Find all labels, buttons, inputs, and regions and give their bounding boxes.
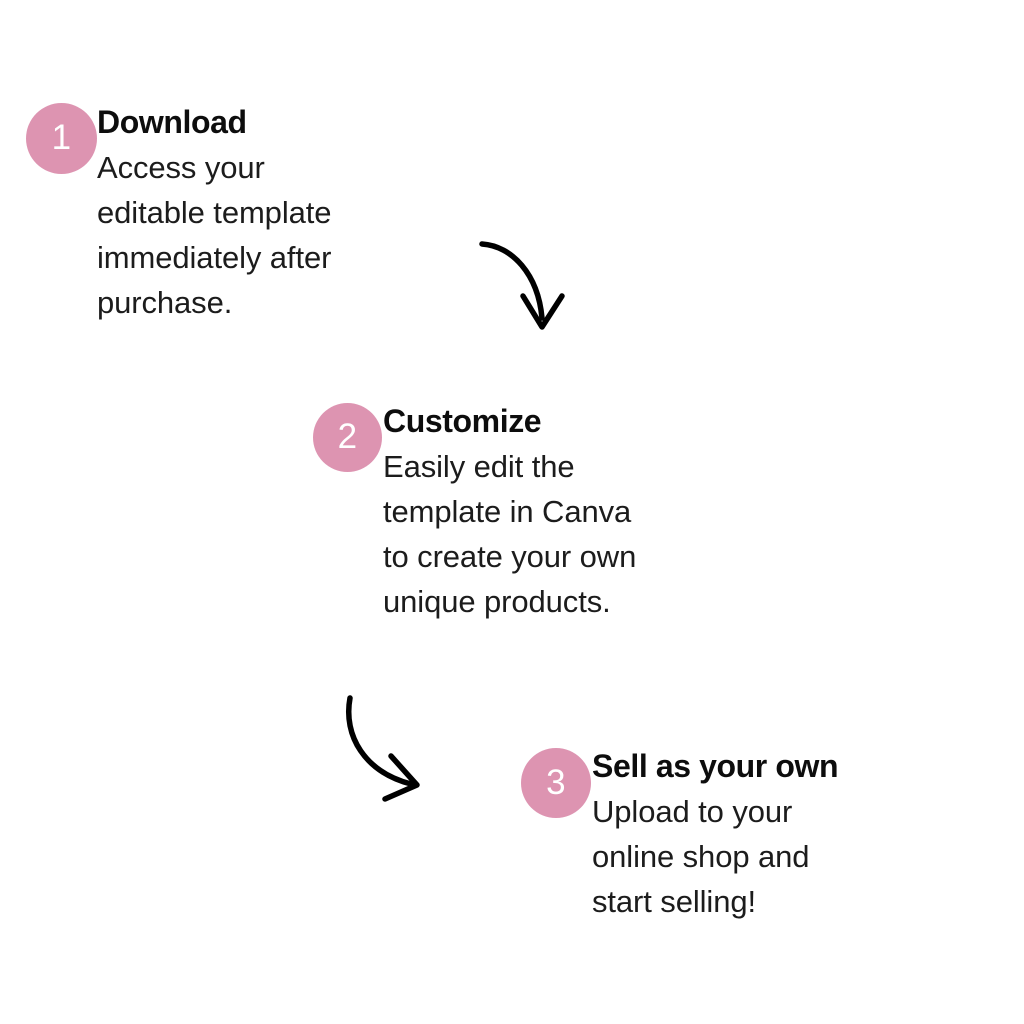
step-3-heading: Sell as your own xyxy=(592,747,838,785)
step-2-body-line-4: unique products. xyxy=(383,579,636,624)
curved-arrow-down-icon xyxy=(470,232,580,342)
step-3-body-line-3: start selling! xyxy=(592,879,838,924)
curved-arrow-down-right-icon xyxy=(335,684,435,804)
step-3-body-line-1: Upload to your xyxy=(592,789,838,834)
step-2-body-line-3: to create your own xyxy=(383,534,636,579)
step-1-number-badge: 1 xyxy=(26,103,97,174)
step-2-text-block: Customize Easily edit the template in Ca… xyxy=(383,402,636,624)
step-3-text-block: Sell as your own Upload to your online s… xyxy=(592,747,838,924)
step-3-number: 3 xyxy=(546,765,566,802)
step-2-number: 2 xyxy=(338,419,358,456)
step-1-body-line-1: Access your xyxy=(97,145,331,190)
step-1-heading: Download xyxy=(97,103,331,141)
step-1-body-line-3: immediately after xyxy=(97,235,331,280)
step-1-body-line-4: purchase. xyxy=(97,280,331,325)
step-2-body-line-2: template in Canva xyxy=(383,489,636,534)
step-2-body-line-1: Easily edit the xyxy=(383,444,636,489)
step-1-text-block: Download Access your editable template i… xyxy=(97,103,331,325)
step-2-number-badge: 2 xyxy=(313,403,382,472)
step-1-body-line-2: editable template xyxy=(97,190,331,235)
step-3-body-line-2: online shop and xyxy=(592,834,838,879)
step-2-heading: Customize xyxy=(383,402,636,440)
infographic-canvas: 1 Download Access your editable template… xyxy=(0,0,1024,1024)
step-3-number-badge: 3 xyxy=(521,748,591,818)
step-1-number: 1 xyxy=(52,120,72,157)
